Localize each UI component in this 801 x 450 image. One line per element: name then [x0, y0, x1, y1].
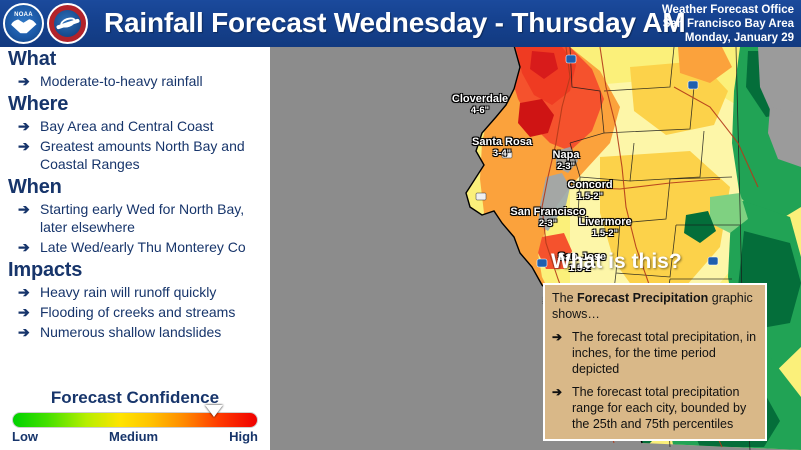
arrow-icon: ➔: [18, 303, 40, 321]
page-title: Rainfall Forecast Wednesday - Thursday A…: [104, 7, 686, 39]
arrow-icon: ➔: [18, 238, 40, 256]
bullet-text: Flooding of creeks and streams: [40, 303, 270, 321]
what-is-this-intro: The Forecast Precipitation graphic shows…: [552, 290, 758, 322]
confidence-marker-icon: [205, 405, 223, 417]
what-is-this-bullets: ➔The forecast total precipitation, in in…: [552, 329, 758, 432]
bullet-item: ➔Flooding of creeks and streams: [0, 303, 270, 321]
whatis-bullet-text: The forecast total precipitation range f…: [572, 384, 758, 432]
summary-sections: What➔Moderate-to-heavy rainfallWhere➔Bay…: [0, 47, 270, 341]
intro-prefix: The: [552, 291, 577, 305]
nws-logo-inner: [54, 10, 81, 37]
bullet-item: ➔Bay Area and Central Coast: [0, 117, 270, 135]
bullet-item: ➔Starting early Wed for North Bay, later…: [0, 200, 270, 236]
bullet-text: Heavy rain will runoff quickly: [40, 283, 270, 301]
confidence-bar-wrap: [12, 412, 258, 428]
section-heading-impacts: Impacts: [8, 258, 270, 282]
bullet-text: Starting early Wed for North Bay, later …: [40, 200, 270, 236]
confidence-label-medium: Medium: [109, 429, 158, 444]
confidence-scale-labels: Low Medium High: [12, 429, 258, 444]
whatis-bullet-item: ➔The forecast total precipitation, in in…: [552, 329, 758, 377]
whatis-bullet-text: The forecast total precipitation, in inc…: [572, 329, 758, 377]
section-heading-what: What: [8, 47, 270, 71]
bullet-text: Greatest amounts North Bay and Coastal R…: [40, 137, 270, 173]
what-is-this-box: The Forecast Precipitation graphic shows…: [543, 283, 767, 441]
precipitation-map[interactable]: Cloverdale4-6"Santa Rosa3-4"Napa2-3"Conc…: [270, 47, 801, 450]
office-info: Weather Forecast Office San Francisco Ba…: [662, 3, 794, 45]
bullet-text: Numerous shallow landslides: [40, 323, 270, 341]
confidence-title: Forecast Confidence: [0, 388, 270, 408]
section-heading-where: Where: [8, 92, 270, 116]
arrow-icon: ➔: [18, 137, 40, 173]
nws-logo-icon: [47, 3, 88, 44]
bullet-item: ➔Numerous shallow landslides: [0, 323, 270, 341]
noaa-bird-icon: [11, 18, 37, 33]
office-line-2: San Francisco Bay Area: [662, 17, 794, 31]
noaa-logo-text: NOAA: [14, 12, 33, 18]
bullet-item: ➔Moderate-to-heavy rainfall: [0, 72, 270, 90]
bullet-item: ➔Greatest amounts North Bay and Coastal …: [0, 137, 270, 173]
bullet-text: Late Wed/early Thu Monterey Co: [40, 238, 270, 256]
arrow-icon: ➔: [552, 384, 572, 432]
office-date: Monday, January 29: [662, 31, 794, 45]
forecast-confidence-widget: Forecast Confidence Low Medium High: [0, 388, 270, 444]
arrow-icon: ➔: [18, 283, 40, 301]
confidence-label-low: Low: [12, 429, 38, 444]
bullet-item: ➔Heavy rain will runoff quickly: [0, 283, 270, 301]
arrow-icon: ➔: [552, 329, 572, 377]
what-is-this-title: What is this?: [551, 250, 682, 274]
bullet-text: Moderate-to-heavy rainfall: [40, 72, 270, 90]
bullet-item: ➔Late Wed/early Thu Monterey Co: [0, 238, 270, 256]
bullet-text: Bay Area and Central Coast: [40, 117, 270, 135]
arrow-icon: ➔: [18, 323, 40, 341]
arrow-icon: ➔: [18, 200, 40, 236]
header-banner: NOAA Rainfall Forecast Wednesday - Thurs…: [0, 0, 801, 47]
arrow-icon: ➔: [18, 117, 40, 135]
noaa-logo-icon: NOAA: [3, 3, 44, 44]
intro-bold: Forecast Precipitation: [577, 291, 708, 305]
forecast-graphic: NOAA Rainfall Forecast Wednesday - Thurs…: [0, 0, 801, 450]
confidence-label-high: High: [229, 429, 258, 444]
whatis-bullet-item: ➔The forecast total precipitation range …: [552, 384, 758, 432]
office-line-1: Weather Forecast Office: [662, 3, 794, 17]
arrow-icon: ➔: [18, 72, 40, 90]
section-heading-when: When: [8, 175, 270, 199]
summary-panel: What➔Moderate-to-heavy rainfallWhere➔Bay…: [0, 47, 270, 450]
